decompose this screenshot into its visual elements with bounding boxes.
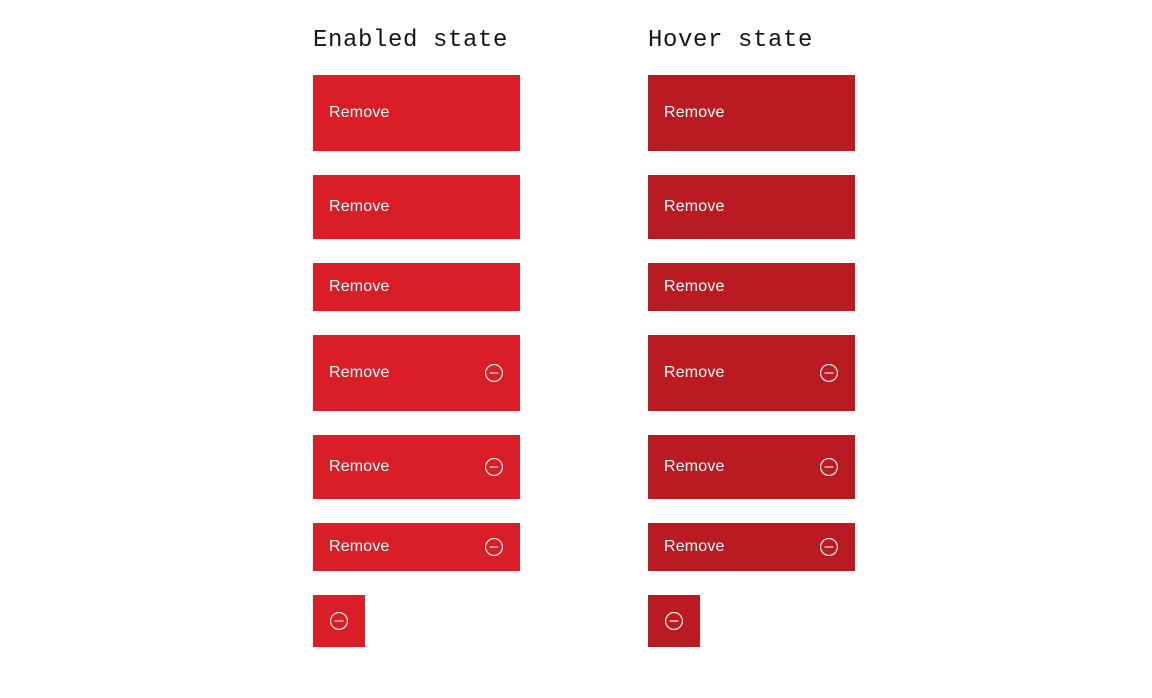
subtract-icon <box>819 537 839 557</box>
button-stack-hover: Remove Remove Remove Remove Remove <box>648 75 855 647</box>
remove-button-label: Remove <box>664 197 725 217</box>
subtract-icon <box>819 457 839 477</box>
remove-button-medium[interactable]: Remove <box>313 175 520 239</box>
remove-button-label: Remove <box>664 457 819 477</box>
subtract-icon <box>484 457 504 477</box>
button-stack-enabled: Remove Remove Remove Remove Remove <box>313 75 520 647</box>
remove-button-label: Remove <box>664 103 725 123</box>
remove-button-label: Remove <box>329 457 484 477</box>
remove-button-large-with-icon[interactable]: Remove <box>313 335 520 411</box>
subtract-icon <box>484 537 504 557</box>
remove-button-icon-only[interactable] <box>313 595 365 647</box>
remove-button-large-with-icon-hover[interactable]: Remove <box>648 335 855 411</box>
remove-button-label: Remove <box>329 363 484 383</box>
remove-button-label: Remove <box>329 277 390 297</box>
remove-button-medium-with-icon[interactable]: Remove <box>313 435 520 499</box>
subtract-icon <box>819 363 839 383</box>
remove-button-medium-with-icon-hover[interactable]: Remove <box>648 435 855 499</box>
remove-button-large-hover[interactable]: Remove <box>648 75 855 151</box>
column-heading-hover: Hover state <box>648 27 813 55</box>
remove-button-icon-only-hover[interactable] <box>648 595 700 647</box>
remove-button-label: Remove <box>329 537 484 557</box>
button-specimen-board: Enabled state Remove Remove Remove Remov… <box>0 0 1152 698</box>
remove-button-small-with-icon[interactable]: Remove <box>313 523 520 571</box>
subtract-icon <box>664 611 684 631</box>
remove-button-label: Remove <box>329 103 390 123</box>
remove-button-label: Remove <box>329 197 390 217</box>
subtract-icon <box>484 363 504 383</box>
remove-button-small[interactable]: Remove <box>313 263 520 311</box>
remove-button-medium-hover[interactable]: Remove <box>648 175 855 239</box>
column-heading-enabled: Enabled state <box>313 27 508 55</box>
remove-button-small-with-icon-hover[interactable]: Remove <box>648 523 855 571</box>
remove-button-label: Remove <box>664 277 725 297</box>
remove-button-label: Remove <box>664 537 819 557</box>
remove-button-large[interactable]: Remove <box>313 75 520 151</box>
subtract-icon <box>329 611 349 631</box>
remove-button-small-hover[interactable]: Remove <box>648 263 855 311</box>
remove-button-label: Remove <box>664 363 819 383</box>
